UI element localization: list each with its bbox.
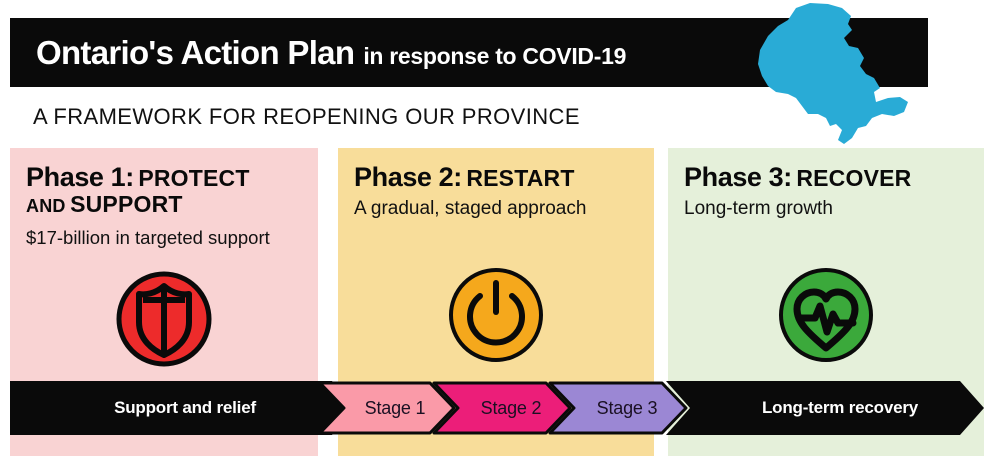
page-title: Ontario's Action Plan in response to COV…: [36, 34, 626, 72]
power-icon: [447, 266, 545, 364]
shield-icon: [115, 270, 213, 368]
phase-2-kind: RESTART: [466, 165, 574, 191]
phase-3-title-line: Phase 3: RECOVER: [684, 162, 968, 192]
phase-1-kind-conjunction: AND: [26, 196, 66, 216]
heart-pulse-icon: [777, 266, 875, 364]
timeline-label-support: Support and relief: [70, 381, 300, 435]
phase-3-description: Long-term growth: [684, 198, 968, 220]
phase-3-kind: RECOVER: [796, 165, 911, 191]
timeline-label-stage-3: Stage 3: [572, 381, 682, 435]
framework-subtitle: A FRAMEWORK FOR REOPENING OUR PROVINCE: [33, 104, 580, 130]
phase-2-title-line: Phase 2: RESTART: [354, 162, 638, 192]
phase-3-number: Phase 3:: [684, 162, 792, 192]
timeline-label-recovery: Long-term recovery: [710, 381, 970, 435]
title-subordinate: in response to COVID-19: [363, 43, 626, 70]
title-main: Ontario's Action Plan: [36, 34, 354, 72]
phase-3-header: Phase 3: RECOVER Long-term growth: [668, 148, 984, 220]
phase-2-description: A gradual, staged approach: [354, 198, 638, 220]
phase-1-number: Phase 1:: [26, 162, 134, 192]
phase-1-kind: PROTECT: [138, 165, 249, 191]
phase-3-icon-slot: [668, 266, 984, 364]
phase-2-header: Phase 2: RESTART A gradual, staged appro…: [338, 148, 654, 220]
timeline-label-stage-1: Stage 1: [340, 381, 450, 435]
phase-1-kind-2: SUPPORT: [70, 191, 183, 217]
phase-1-description: $17-billion in targeted support: [26, 227, 302, 249]
phase-1-header: Phase 1: PROTECT AND SUPPORT $17-billion…: [10, 148, 318, 249]
phase-2-icon-slot: [338, 266, 654, 364]
header-bar: Ontario's Action Plan in response to COV…: [10, 18, 928, 87]
timeline-label-stage-2: Stage 2: [456, 381, 566, 435]
phase-2-number: Phase 2:: [354, 162, 462, 192]
phase-1-title-line-2: AND SUPPORT: [26, 192, 302, 218]
phase-1-icon-slot: [10, 270, 318, 368]
phase-1-title-line: Phase 1: PROTECT: [26, 162, 302, 192]
timeline-bar: Support and relief Stage 1 Stage 2 Stage…: [10, 381, 984, 435]
